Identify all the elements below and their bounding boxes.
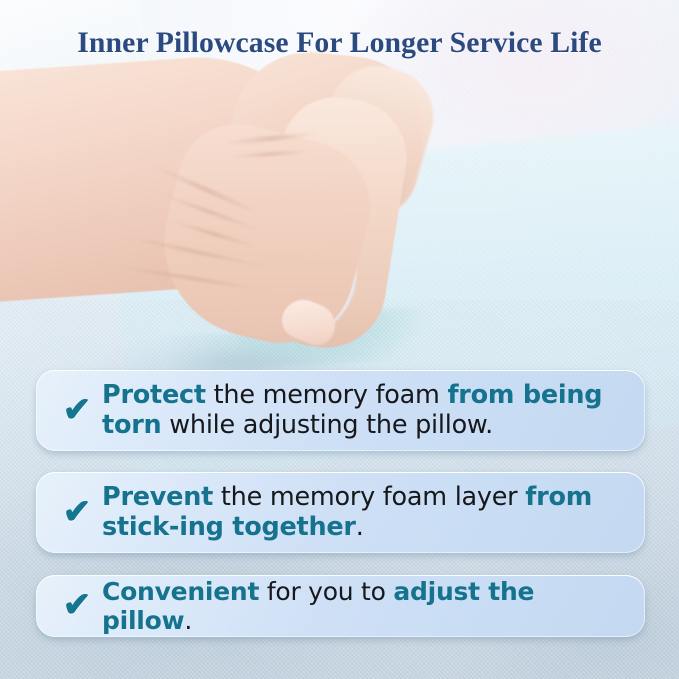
feature-highlight: Protect — [102, 380, 206, 410]
feature-text-2: Prevent the memory foam layer from stick… — [102, 483, 627, 542]
feature-text-1: Protect the memory foam from being torn … — [102, 381, 627, 440]
feature-text-3: Convenient for you to adjust the pillow. — [102, 577, 627, 635]
checkmark-icon: ✔ — [52, 393, 102, 427]
feature-plain: the memory foam layer — [213, 482, 525, 512]
feature-plain: . — [356, 512, 364, 542]
feature-list: ✔ Protect the memory foam from being tor… — [0, 0, 679, 679]
feature-plain: while adjusting the pillow. — [161, 410, 493, 440]
feature-plain: for you to — [259, 577, 393, 606]
checkmark-icon: ✔ — [52, 495, 102, 529]
feature-highlight: Convenient — [102, 577, 259, 606]
feature-item-3: ✔ Convenient for you to adjust the pillo… — [36, 575, 645, 637]
feature-item-2: ✔ Prevent the memory foam layer from sti… — [36, 472, 645, 553]
feature-plain: the memory foam — [206, 380, 448, 410]
feature-plain: . — [184, 606, 192, 635]
product-feature-graphic: Inner Pillowcase For Longer Service Life… — [0, 0, 679, 679]
checkmark-icon: ✔ — [52, 588, 102, 622]
feature-item-1: ✔ Protect the memory foam from being tor… — [36, 370, 645, 451]
feature-highlight: Prevent — [102, 482, 213, 512]
